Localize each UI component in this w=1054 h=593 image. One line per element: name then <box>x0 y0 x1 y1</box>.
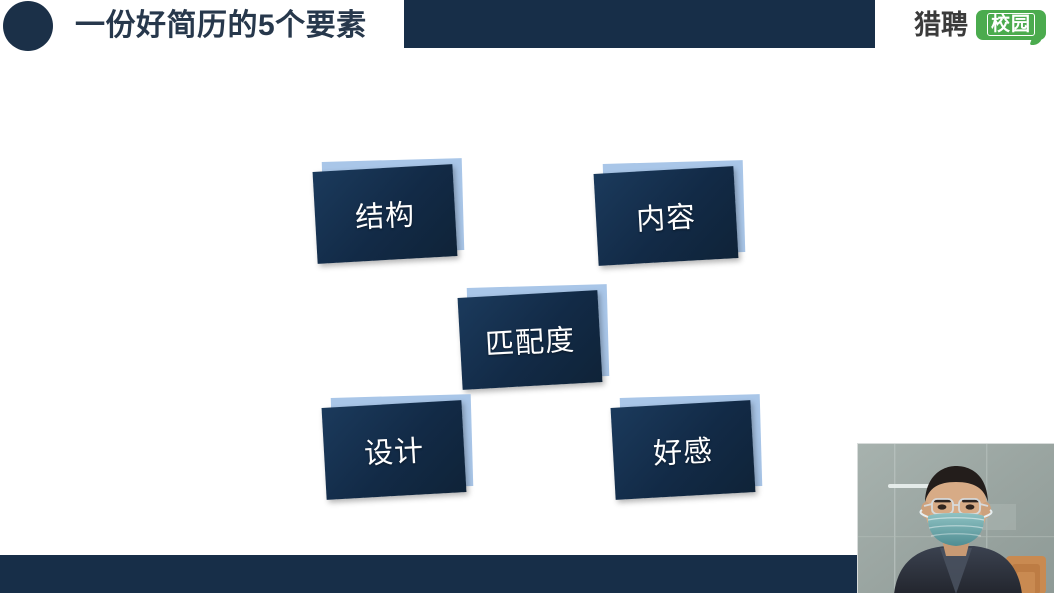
card-label: 内容 <box>635 193 697 238</box>
card-label: 设计 <box>363 427 425 472</box>
card-content: 内容 <box>596 170 736 262</box>
page-title: 一份好简历的5个要素 <box>75 5 367 47</box>
card-label: 好感 <box>652 427 714 472</box>
card-label: 匹配度 <box>484 317 576 364</box>
presenter-video-feed[interactable] <box>857 443 1054 593</box>
card-design: 设计 <box>324 404 464 496</box>
card-likability: 好感 <box>613 404 753 496</box>
circle-bullet-icon <box>3 1 53 51</box>
card-front-shape: 匹配度 <box>458 290 603 390</box>
card-front-shape: 设计 <box>322 400 467 500</box>
card-structure: 结构 <box>315 168 455 260</box>
card-front-shape: 内容 <box>594 166 739 266</box>
brand-name: 猎聘 <box>914 10 968 40</box>
presentation-slide: 一份好简历的5个要素 猎聘 校园 结构 内容 匹配度 设计 好感 <box>0 0 1054 593</box>
card-label: 结构 <box>354 191 416 236</box>
brand-badge-label: 校园 <box>987 13 1035 36</box>
presenter-video-frame <box>858 444 1054 593</box>
brand-badge: 校园 <box>976 10 1046 40</box>
card-front-shape: 结构 <box>313 164 458 264</box>
card-front-shape: 好感 <box>611 400 756 500</box>
brand-logo: 猎聘 校园 <box>914 8 1046 42</box>
header-accent-band <box>404 0 875 48</box>
card-match-degree: 匹配度 <box>460 294 600 386</box>
